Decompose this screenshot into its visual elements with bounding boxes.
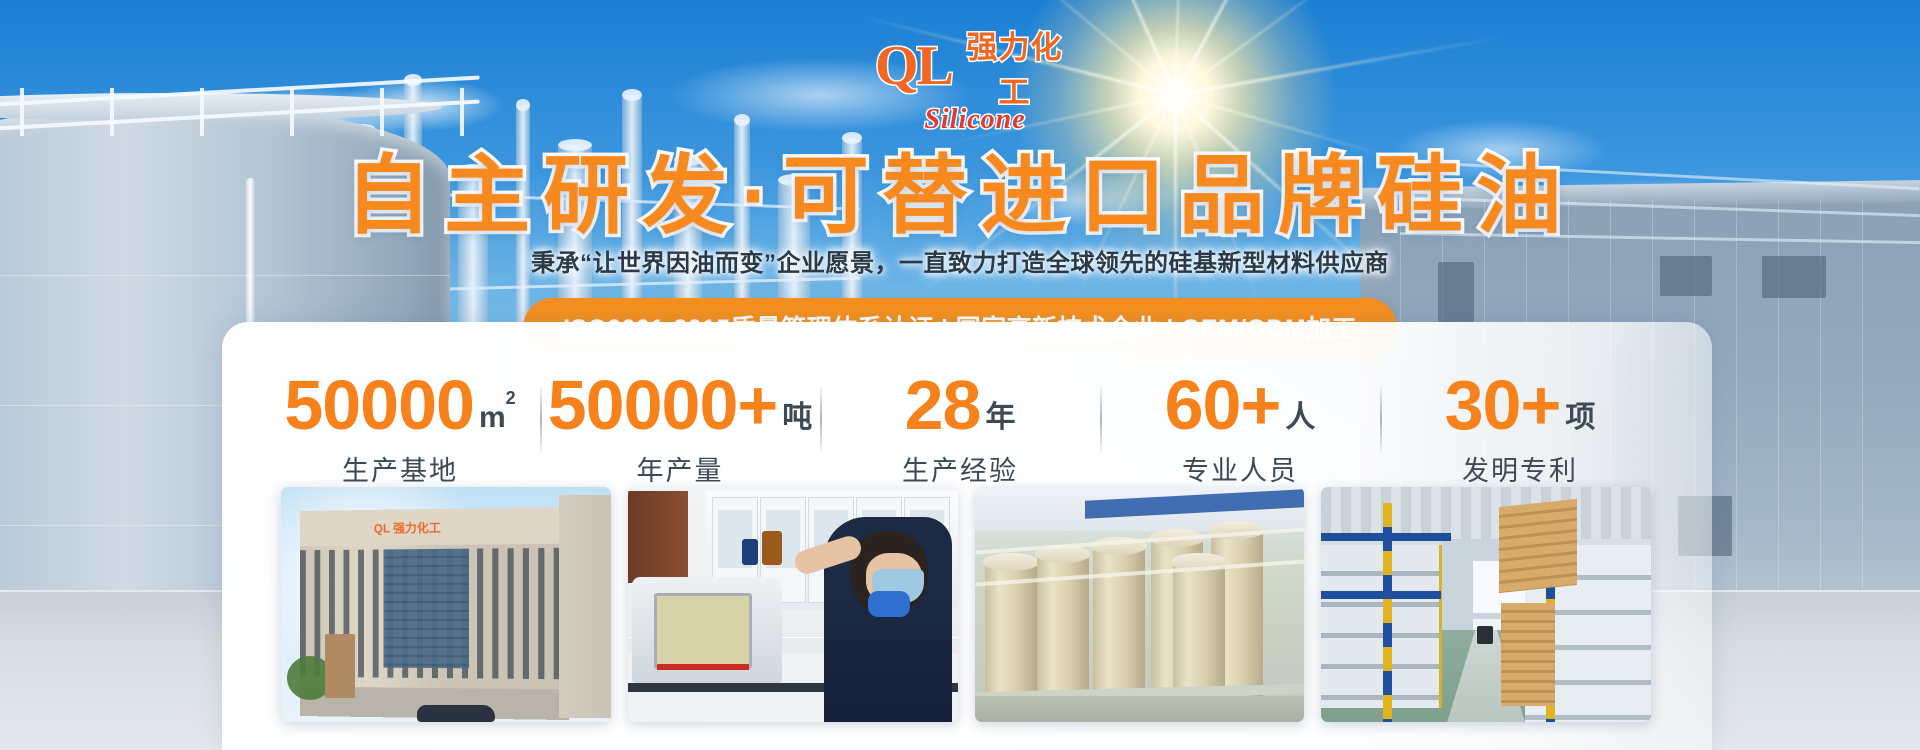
stat-label: 年产量: [546, 449, 814, 488]
company-logo[interactable]: QL 强力化工 Silicone: [875, 22, 1075, 112]
stat-item-experience-years: 28 年 生产经验: [820, 370, 1100, 488]
stat-value: 28: [905, 370, 981, 440]
hero-headline: 自主研发·可替进口品牌硅油: [0, 125, 1920, 250]
stat-value: 50000+: [548, 370, 778, 440]
stat-unit-superscript: 2: [506, 388, 516, 408]
stats-row: 50000 m2 生产基地 50000+ 吨 年产量 28 年 生产经验 60+…: [260, 370, 1660, 490]
hero-subtitle: 秉承“让世界因油而变”企业愿景，一直致力打造全球领先的硅基新型材料供应商: [0, 243, 1920, 278]
stat-unit: 人: [1285, 403, 1315, 433]
stat-item-annual-output: 50000+ 吨 年产量: [540, 370, 820, 488]
stat-value: 60+: [1165, 370, 1281, 440]
stat-value: 30+: [1445, 370, 1561, 440]
stat-item-professional-staff: 60+ 人 专业人员: [1100, 370, 1380, 488]
stat-item-patents: 30+ 项 发明专利: [1380, 370, 1660, 488]
stat-unit: m2: [479, 401, 516, 433]
building-logo: QL 强力化工: [374, 519, 441, 537]
hero-banner: QL 强力化工 Silicone 自主研发·可替进口品牌硅油 秉承“让世界因油而…: [0, 0, 1920, 750]
stat-label: 专业人员: [1106, 449, 1374, 488]
photo-storage-tank-farm[interactable]: [975, 487, 1305, 722]
photo-strip: QL 强力化工: [281, 487, 1651, 722]
photo-office-building[interactable]: QL 强力化工: [281, 487, 611, 722]
stat-label: 发明专利: [1386, 449, 1654, 488]
stat-unit: 项: [1565, 403, 1595, 433]
stat-unit: 年: [985, 403, 1015, 433]
stat-item-production-base: 50000 m2 生产基地: [260, 370, 540, 488]
photo-laboratory-technician[interactable]: [628, 487, 958, 722]
stat-value: 50000: [284, 370, 474, 440]
photo-warehouse[interactable]: [1321, 487, 1651, 722]
logo-mark-ql: QL: [875, 40, 952, 93]
logo-name-cn: 强力化工: [954, 22, 1075, 112]
stat-label: 生产经验: [826, 449, 1094, 488]
stat-unit: 吨: [782, 403, 812, 433]
stat-label: 生产基地: [266, 449, 534, 488]
